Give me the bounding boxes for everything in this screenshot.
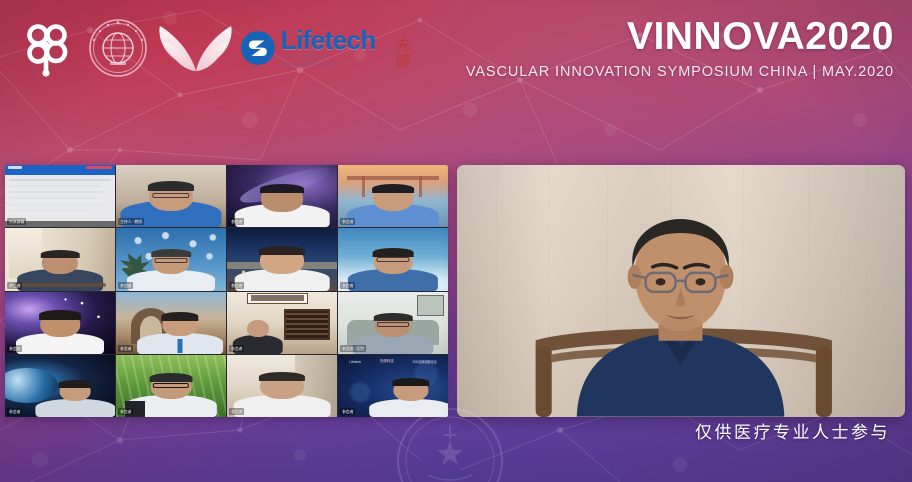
video-tile-label: 参会者: [118, 282, 133, 289]
video-tile-label: 参会者: [118, 345, 133, 352]
lifetech-wordmark: Lifetech: [281, 27, 388, 53]
cscg-knot-logo: [10, 12, 82, 84]
institution-seal-logo: [82, 12, 154, 84]
video-tile-label: 参会者: [7, 282, 22, 289]
lifetech-tagline: LIFETECH SCIENTIFIC: [281, 53, 388, 69]
video-tile-14[interactable]: 参会者: [116, 355, 226, 417]
video-tile-2[interactable]: 主持人 · 教授: [116, 165, 226, 227]
event-header: Lifetech LIFETECH SCIENTIFIC 先健 VINNOVA2…: [0, 0, 912, 112]
video-tile-screenshare[interactable]: 共享屏幕: [5, 165, 115, 227]
video-tile-label: 参会者: [7, 408, 22, 415]
event-title: VINNOVA2020: [466, 14, 894, 60]
lifetech-mark-icon: [240, 30, 276, 66]
video-tile-label: 参会者: [340, 218, 355, 225]
video-tile-3[interactable]: 参会者: [227, 165, 337, 227]
video-tile-10[interactable]: 参会者: [116, 292, 226, 354]
lifetech-cn-mark: 先健: [394, 37, 410, 69]
video-tile-label: 参会者: [229, 408, 244, 415]
wings-logo: [154, 12, 240, 84]
video-tile-4[interactable]: 参会者: [338, 165, 448, 227]
event-title-block: VINNOVA2020 VASCULAR INNOVATION SYMPOSIU…: [466, 14, 894, 82]
knot-icon: [15, 17, 77, 79]
sponsor-strip-item-1: Lifetech: [349, 360, 361, 364]
video-tile-7[interactable]: 参会者: [227, 228, 337, 290]
video-tile-label: 主持人 · 教授: [118, 218, 144, 225]
sponsor-strip-item-2: 先健科技: [380, 359, 394, 364]
sponsor-strip-item-3: 2020血管创新论坛: [412, 359, 436, 364]
speaker-person: [457, 215, 904, 417]
video-tile-11[interactable]: 参会者: [227, 292, 337, 354]
video-tile-label: 参会者: [340, 408, 355, 415]
video-tile-label: 参会者: [229, 282, 244, 289]
video-tile-6[interactable]: 参会者: [116, 228, 226, 290]
video-tile-label: 共享屏幕: [7, 218, 26, 225]
video-tile-label: 参会者: [118, 408, 133, 415]
video-tile-15[interactable]: 参会者: [227, 355, 337, 417]
globe-seal-icon: [88, 18, 148, 78]
event-subtitle: VASCULAR INNOVATION SYMPOSIUM CHINA | MA…: [466, 62, 894, 82]
video-tile-label: 参会者: [229, 345, 244, 352]
video-tile-16[interactable]: Lifetech 先健科技 2020血管创新论坛 参会者: [338, 355, 448, 417]
video-tile-9[interactable]: 参会者: [5, 292, 115, 354]
video-tile-5[interactable]: 参会者: [5, 228, 115, 290]
main-speaker-video[interactable]: [457, 165, 905, 417]
wings-icon: [155, 17, 239, 79]
video-tile-12[interactable]: 参会者 · 医院: [338, 292, 448, 354]
video-tile-13[interactable]: 参会者: [5, 355, 115, 417]
lifetech-logo: Lifetech LIFETECH SCIENTIFIC 先健: [240, 12, 410, 84]
sponsor-logo-row: Lifetech LIFETECH SCIENTIFIC 先健: [10, 12, 410, 84]
video-tile-8[interactable]: 参会者: [338, 228, 448, 290]
video-tile-label: 参会者 · 医院: [340, 345, 366, 352]
slide-canvas: Lifetech LIFETECH SCIENTIFIC 先健 VINNOVA2…: [0, 0, 912, 482]
video-tile-label: 参会者: [7, 345, 22, 352]
participant-video-grid[interactable]: 共享屏幕 主持人 · 教授 参会者: [5, 165, 448, 417]
video-tile-label: 参会者: [340, 282, 355, 289]
video-tile-label: 参会者: [229, 218, 244, 225]
medical-professional-notice: 仅供医疗专业人士参与: [695, 418, 890, 443]
